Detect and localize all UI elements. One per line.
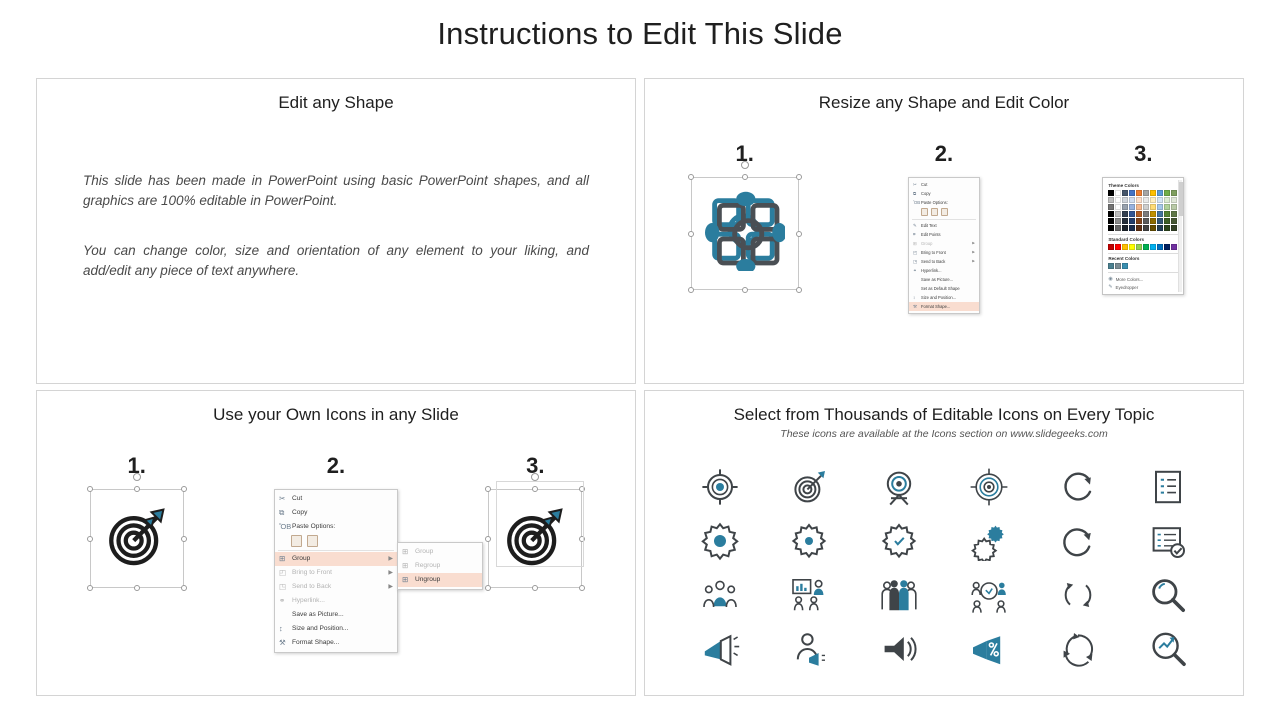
resize-handle-se[interactable] <box>796 287 802 293</box>
menu-item-label: Paste Options: <box>292 521 335 533</box>
send-back-icon: ◳ <box>913 258 921 265</box>
menu-item-label: Send to Back <box>292 581 331 593</box>
divider <box>1108 234 1178 235</box>
format-shape-icon: ⚒ <box>279 637 292 649</box>
menu-item-label: Send to Back <box>921 258 945 265</box>
copy-icon: ⧉ <box>913 190 921 197</box>
menu-item-save-as-picture[interactable]: Save as Picture... <box>275 608 397 622</box>
panel-edit-any-shape: Edit any Shape This slide has been made … <box>36 78 636 384</box>
color-swatch[interactable] <box>1157 211 1163 217</box>
menu-item-size-and-position[interactable]: ↕Size and Position... <box>275 622 397 636</box>
submenu-item-label: Ungroup <box>415 574 440 586</box>
own-icons-step-1: 1. <box>47 453 227 588</box>
color-swatch[interactable] <box>1108 204 1114 210</box>
step-number: 3. <box>1053 141 1233 167</box>
resize-handle-n[interactable] <box>532 486 538 492</box>
color-swatch[interactable] <box>1115 225 1121 231</box>
submenu-item-label: Group <box>415 546 433 558</box>
color-swatch[interactable] <box>1143 197 1149 203</box>
color-swatch[interactable] <box>1108 225 1114 231</box>
color-swatch[interactable] <box>1129 244 1135 250</box>
color-swatch[interactable] <box>1115 263 1121 269</box>
menu-item-group[interactable]: ⊞Group▶ <box>275 552 397 566</box>
paste-icon: ὌB <box>913 199 921 206</box>
color-swatch[interactable] <box>1157 204 1163 210</box>
color-swatch[interactable] <box>1115 204 1121 210</box>
menu-item-label: Group <box>292 553 310 565</box>
resize-handle-s[interactable] <box>532 585 538 591</box>
page-title: Instructions to Edit This Slide <box>0 16 1280 52</box>
selection-box[interactable] <box>90 489 184 588</box>
team-crowd-icon[interactable] <box>879 575 919 615</box>
color-swatch[interactable] <box>1164 218 1170 224</box>
size-position-icon: ↕ <box>279 623 292 635</box>
panel-title-edit-shape: Edit any Shape <box>37 93 635 113</box>
refresh-circle-icon[interactable] <box>1058 521 1098 561</box>
group-context-menu[interactable]: ✂Cut⧉CopyὌBPaste Options:⊞Group▶◰Bring t… <box>274 489 398 653</box>
menu-item-set-as-default-shape[interactable]: Set as Default Shape <box>909 284 979 293</box>
color-swatch[interactable] <box>1157 225 1163 231</box>
menu-item-cut[interactable]: ✂Cut <box>909 180 979 189</box>
color-swatch[interactable] <box>1115 211 1121 217</box>
color-swatch[interactable] <box>1164 190 1170 196</box>
menu-item-bring-to-front[interactable]: ◰Bring to Front▶ <box>275 566 397 580</box>
size-position-icon: ↕ <box>913 294 921 301</box>
color-swatch[interactable] <box>1108 190 1114 196</box>
presentation-team-icon[interactable] <box>789 575 829 615</box>
menu-item-label: Hyperlink... <box>292 595 325 607</box>
color-swatch[interactable] <box>1157 244 1163 250</box>
color-picker-scrollbar[interactable] <box>1178 180 1182 292</box>
bring-front-icon: ◰ <box>279 567 292 579</box>
color-swatch[interactable] <box>1129 197 1135 203</box>
resize-handle-nw[interactable] <box>688 174 694 180</box>
hyperlink-icon: ⚭ <box>913 267 921 274</box>
theme-color-swatches[interactable] <box>1108 190 1178 231</box>
menu-item-save-as-picture[interactable]: Save as Picture... <box>909 275 979 284</box>
color-swatch[interactable] <box>1129 190 1135 196</box>
group-icon: ⊞ <box>402 546 415 558</box>
palette-icon: ◉ <box>1108 276 1112 282</box>
paste-option-button[interactable] <box>941 208 948 216</box>
color-swatch[interactable] <box>1164 197 1170 203</box>
menu-item-send-to-back[interactable]: ◳Send to Back▶ <box>275 580 397 594</box>
eyedropper-label: Eyedropper <box>1116 285 1139 290</box>
chevron-right-icon: ▶ <box>972 258 975 265</box>
gear-outline-icon[interactable] <box>789 521 829 561</box>
menu-item-label: Edit Points <box>921 231 941 238</box>
menu-item-label: Cut <box>292 493 302 505</box>
color-swatch[interactable] <box>1129 218 1135 224</box>
color-swatch[interactable] <box>1122 218 1128 224</box>
color-swatch[interactable] <box>1171 204 1177 210</box>
color-swatch[interactable] <box>1129 211 1135 217</box>
color-swatch[interactable] <box>1115 197 1121 203</box>
resize-handle-sw[interactable] <box>87 585 93 591</box>
step-artwork <box>655 177 835 290</box>
paste-option-button[interactable] <box>307 535 318 547</box>
menu-item-hyperlink[interactable]: ⚭Hyperlink... <box>909 266 979 275</box>
edit-shape-paragraph-2: You can change color, size and orientati… <box>83 241 589 281</box>
rotate-handle[interactable] <box>133 473 141 481</box>
menu-item-send-to-back[interactable]: ◳Send to Back▶ <box>909 257 979 266</box>
selection-box[interactable] <box>691 177 799 290</box>
color-swatch[interactable] <box>1157 197 1163 203</box>
group-icon: ⊞ <box>402 560 415 572</box>
divider <box>912 219 976 220</box>
color-swatch[interactable] <box>1143 190 1149 196</box>
hyperlink-icon: ⚭ <box>279 595 292 607</box>
step-artwork: Theme Colors Standard Colors Recent Colo… <box>1053 177 1233 295</box>
color-swatch[interactable] <box>1108 218 1114 224</box>
color-swatch[interactable] <box>1122 211 1128 217</box>
panel-resize-shape-edit-color: Resize any Shape and Edit Color 1. <box>644 78 1244 384</box>
step-artwork: ✂Cut⧉CopyὌBPaste Options:✎Edit Text⌗Edit… <box>854 177 1034 314</box>
menu-item-label: Copy <box>292 507 307 519</box>
menu-item-cut[interactable]: ✂Cut <box>275 492 397 506</box>
more-colors-label: More Colors... <box>1116 277 1144 282</box>
color-swatch[interactable] <box>1115 244 1121 250</box>
group-icon: ⊞ <box>402 574 415 586</box>
resize-handle-ne[interactable] <box>579 486 585 492</box>
resize-handle-e[interactable] <box>181 536 187 542</box>
menu-item-label: Paste Options: <box>921 199 948 206</box>
resize-handle-ne[interactable] <box>181 486 187 492</box>
color-swatch[interactable] <box>1136 244 1142 250</box>
color-swatch[interactable] <box>1171 197 1177 203</box>
resize-step-1: 1. <box>655 141 835 290</box>
color-swatch[interactable] <box>1171 190 1177 196</box>
panel-subtitle-editable-icons: These icons are available at the Icons s… <box>645 428 1243 440</box>
color-swatch[interactable] <box>1129 204 1135 210</box>
menu-item-label: Format Shape... <box>921 303 950 310</box>
color-swatch[interactable] <box>1143 225 1149 231</box>
sync-arrows-icon[interactable] <box>1058 575 1098 615</box>
color-swatch[interactable] <box>1171 211 1177 217</box>
color-swatch[interactable] <box>1157 218 1163 224</box>
submenu-item-label: Regroup <box>415 560 440 572</box>
menu-item-label: Save as Picture... <box>292 609 344 621</box>
menu-item-label: Hyperlink... <box>921 267 941 274</box>
menu-item-label: Edit Text <box>921 222 937 229</box>
menu-item-paste-options[interactable]: ὌBPaste Options: <box>909 198 979 207</box>
step-number: 2. <box>246 453 426 479</box>
theme-colors-label: Theme Colors <box>1108 183 1178 188</box>
submenu-item-ungroup[interactable]: ⊞Ungroup <box>398 573 482 587</box>
menu-item-label: Bring to Front <box>292 567 332 579</box>
group-submenu[interactable]: ⊞Group⊞Regroup⊞Ungroup <box>397 542 483 590</box>
menu-item-paste-options[interactable]: ὌBPaste Options: <box>275 520 397 534</box>
color-swatch[interactable] <box>1136 211 1142 217</box>
panel-own-icons: Use your Own Icons in any Slide 1. <box>36 390 636 696</box>
chevron-right-icon: ▶ <box>388 581 393 593</box>
panel-title-resize-shape: Resize any Shape and Edit Color <box>645 93 1243 113</box>
rotate-handle[interactable] <box>741 161 749 169</box>
meeting-discussion-icon[interactable] <box>969 575 1009 615</box>
copy-icon: ⧉ <box>279 507 292 519</box>
color-swatch[interactable] <box>1129 225 1135 231</box>
divider <box>278 550 394 551</box>
send-back-icon: ◳ <box>279 581 292 593</box>
paste-option-button[interactable] <box>291 535 302 547</box>
gears-double-icon[interactable] <box>969 521 1009 561</box>
color-swatch[interactable] <box>1150 197 1156 203</box>
edit-text-icon: ✎ <box>913 222 921 229</box>
resize-handle-sw[interactable] <box>688 287 694 293</box>
menu-item-label: Set as Default Shape <box>921 285 960 292</box>
paste-option-button[interactable] <box>921 208 928 216</box>
color-swatch[interactable] <box>1143 211 1149 217</box>
target-crosshair-icon <box>705 191 785 271</box>
menu-item-edit-text[interactable]: ✎Edit Text <box>909 221 979 230</box>
checklist-approved-icon[interactable] <box>1148 521 1188 561</box>
resize-handle-nw[interactable] <box>87 486 93 492</box>
recent-colors-label: Recent Colors <box>1108 256 1178 261</box>
person-megaphone-icon[interactable] <box>789 629 829 669</box>
paste-options-row <box>275 534 397 549</box>
color-swatch[interactable] <box>1150 244 1156 250</box>
chevron-right-icon: ▶ <box>972 249 975 256</box>
target-dart-icon <box>104 503 170 569</box>
color-swatch[interactable] <box>1143 244 1149 250</box>
step-artwork: ✂Cut⧉CopyὌBPaste Options:⊞Group▶◰Bring t… <box>246 489 426 653</box>
color-swatch[interactable] <box>1150 190 1156 196</box>
resize-handle-n[interactable] <box>742 174 748 180</box>
resize-handle-e[interactable] <box>579 536 585 542</box>
group-icon: ⊞ <box>279 553 292 565</box>
color-swatch[interactable] <box>1143 204 1149 210</box>
divider <box>1108 253 1178 254</box>
menu-item-label: Bring to Front <box>921 249 946 256</box>
refresh-arrow-icon[interactable] <box>1058 467 1098 507</box>
color-swatch[interactable] <box>1122 244 1128 250</box>
submenu-item-group[interactable]: ⊞Group <box>398 545 482 559</box>
color-swatch[interactable] <box>1150 211 1156 217</box>
gear-check-icon[interactable] <box>879 521 919 561</box>
resize-handle-w[interactable] <box>485 536 491 542</box>
icon-gallery <box>675 467 1213 669</box>
scissors-icon: ✂ <box>279 493 292 505</box>
resize-handle-w[interactable] <box>87 536 93 542</box>
color-swatch[interactable] <box>1122 263 1128 269</box>
menu-item-label: Save as Picture... <box>921 276 953 283</box>
color-swatch[interactable] <box>1108 211 1114 217</box>
target-crosshair-icon[interactable] <box>700 467 740 507</box>
divider <box>1108 272 1178 273</box>
menu-item-label: Format Shape... <box>292 637 339 649</box>
shape-context-menu[interactable]: ✂Cut⧉CopyὌBPaste Options:✎Edit Text⌗Edit… <box>908 177 980 314</box>
menu-item-label: Cut <box>921 181 927 188</box>
edit-points-icon: ⌗ <box>913 231 921 238</box>
group-icon: ⊞ <box>913 240 921 247</box>
color-swatch[interactable] <box>1108 197 1114 203</box>
color-swatch[interactable] <box>1164 204 1170 210</box>
color-swatch[interactable] <box>1115 190 1121 196</box>
color-swatch[interactable] <box>1150 218 1156 224</box>
recent-color-swatches[interactable] <box>1108 263 1178 269</box>
standard-color-swatches[interactable] <box>1108 244 1178 250</box>
color-swatch[interactable] <box>1136 204 1142 210</box>
panel-grid: Edit any Shape This slide has been made … <box>36 78 1244 696</box>
paste-icon: ὌB <box>279 521 292 533</box>
color-swatch[interactable] <box>1171 225 1177 231</box>
menu-item-edit-points[interactable]: ⌗Edit Points <box>909 230 979 239</box>
menu-item-format-shape[interactable]: ⚒Format Shape... <box>275 636 397 650</box>
resize-handle-n[interactable] <box>134 486 140 492</box>
gear-icon[interactable] <box>700 521 740 561</box>
color-swatch[interactable] <box>1150 225 1156 231</box>
target-stand-icon[interactable] <box>879 467 919 507</box>
resize-handle-se[interactable] <box>579 585 585 591</box>
paste-options-row <box>909 207 979 218</box>
menu-item-label: Copy <box>921 190 931 197</box>
edit-shape-paragraph-1: This slide has been made in PowerPoint u… <box>83 171 589 211</box>
magnifier-chart-icon[interactable] <box>1148 629 1188 669</box>
submenu-item-regroup[interactable]: ⊞Regroup <box>398 559 482 573</box>
color-swatch[interactable] <box>1122 197 1128 203</box>
color-swatch[interactable] <box>1143 218 1149 224</box>
slide-canvas: Instructions to Edit This Slide Edit any… <box>0 0 1280 720</box>
paste-option-button[interactable] <box>931 208 938 216</box>
chevron-right-icon: ▶ <box>388 553 393 565</box>
menu-item-format-shape[interactable]: ⚒Format Shape... <box>909 302 979 311</box>
standard-colors-label: Standard Colors <box>1108 237 1178 242</box>
eyedropper-icon: ✎ <box>1108 284 1112 290</box>
color-swatch[interactable] <box>1122 190 1128 196</box>
target-dart-icon[interactable] <box>789 467 829 507</box>
panel-editable-icons: Select from Thousands of Editable Icons … <box>644 390 1244 696</box>
menu-item-label: Group <box>921 240 932 247</box>
color-swatch[interactable] <box>1164 211 1170 217</box>
checklist-document-icon[interactable] <box>1148 467 1188 507</box>
step-number: 2. <box>854 141 1034 167</box>
resize-handle-nw[interactable] <box>485 486 491 492</box>
people-group-icon[interactable] <box>700 575 740 615</box>
own-icons-step-2: 2. ✂Cut⧉CopyὌBPaste Options:⊞Group▶◰Brin… <box>246 453 426 653</box>
color-swatch[interactable] <box>1136 225 1142 231</box>
color-swatch[interactable] <box>1157 190 1163 196</box>
target-dart-icon <box>502 503 568 569</box>
menu-item-bring-to-front[interactable]: ◰Bring to Front▶ <box>909 248 979 257</box>
resize-handle-se[interactable] <box>181 585 187 591</box>
cycle-arrows-icon[interactable] <box>1058 629 1098 669</box>
color-swatch[interactable] <box>1164 244 1170 250</box>
speaker-icon[interactable] <box>879 629 919 669</box>
megaphone-icon[interactable] <box>700 629 740 669</box>
menu-item-copy[interactable]: ⧉Copy <box>275 506 397 520</box>
selection-box-ungrouped[interactable] <box>488 489 582 588</box>
magnifier-icon[interactable] <box>1148 575 1188 615</box>
resize-handle-s[interactable] <box>134 585 140 591</box>
resize-steps: 1. <box>645 141 1243 314</box>
resize-step-3: 3. Theme Colors Standard Colors Recent C… <box>1053 141 1233 295</box>
more-colors-item[interactable]: ◉ More Colors... <box>1108 275 1178 283</box>
resize-step-2: 2. ✂Cut⧉CopyὌBPaste Options:✎Edit Text⌗E… <box>854 141 1034 314</box>
theme-color-picker[interactable]: Theme Colors Standard Colors Recent Colo… <box>1102 177 1184 295</box>
scissors-icon: ✂ <box>913 181 921 188</box>
color-swatch[interactable] <box>1136 197 1142 203</box>
color-swatch[interactable] <box>1115 218 1121 224</box>
color-swatch[interactable] <box>1122 225 1128 231</box>
panel-title-editable-icons: Select from Thousands of Editable Icons … <box>645 405 1243 425</box>
color-swatch[interactable] <box>1108 263 1114 269</box>
menu-item-copy[interactable]: ⧉Copy <box>909 189 979 198</box>
resize-handle-ne[interactable] <box>796 174 802 180</box>
eyedropper-item[interactable]: ✎ Eyedropper <box>1108 283 1178 291</box>
target-scope-icon[interactable] <box>969 467 1009 507</box>
resize-handle-w[interactable] <box>688 231 694 237</box>
resize-handle-e[interactable] <box>796 231 802 237</box>
chevron-right-icon: ▶ <box>972 240 975 247</box>
color-swatch[interactable] <box>1136 218 1142 224</box>
color-swatch[interactable] <box>1171 244 1177 250</box>
bring-front-icon: ◰ <box>913 249 921 256</box>
resize-handle-s[interactable] <box>742 287 748 293</box>
color-swatch[interactable] <box>1150 204 1156 210</box>
color-swatch[interactable] <box>1171 218 1177 224</box>
rotate-handle[interactable] <box>531 473 539 481</box>
megaphone-percent-icon[interactable] <box>969 629 1009 669</box>
menu-item-label: Size and Position... <box>921 294 956 301</box>
own-icons-steps: 1. <box>37 453 635 653</box>
chevron-right-icon: ▶ <box>388 567 393 579</box>
step-artwork <box>47 489 227 588</box>
color-swatch[interactable] <box>1136 190 1142 196</box>
color-swatch[interactable] <box>1108 244 1114 250</box>
menu-item-hyperlink[interactable]: ⚭Hyperlink... <box>275 594 397 608</box>
menu-item-size-and-position[interactable]: ↕Size and Position... <box>909 293 979 302</box>
menu-item-group[interactable]: ⊞Group▶ <box>909 239 979 248</box>
menu-item-label: Size and Position... <box>292 623 348 635</box>
panel-title-own-icons: Use your Own Icons in any Slide <box>37 405 635 425</box>
format-shape-icon: ⚒ <box>913 303 921 310</box>
color-swatch[interactable] <box>1122 204 1128 210</box>
color-swatch[interactable] <box>1164 225 1170 231</box>
resize-handle-sw[interactable] <box>485 585 491 591</box>
